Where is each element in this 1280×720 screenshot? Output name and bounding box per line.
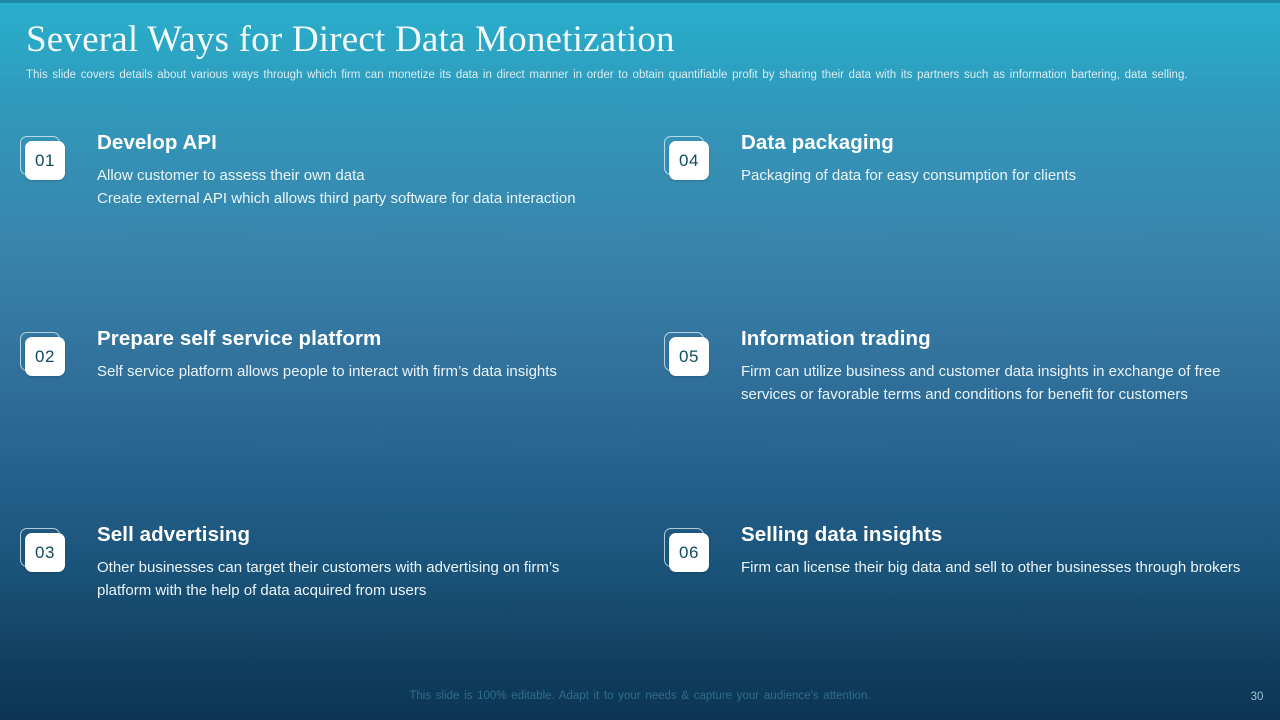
number-badge: 01 [20,136,72,186]
badge-number: 03 [35,544,55,561]
badge-front-layer: 05 [669,337,709,376]
badge-number: 05 [679,348,699,365]
list-item-body: Data packaging Packaging of data for eas… [741,130,1256,187]
badge-number: 01 [35,152,55,169]
top-divider [0,0,1280,3]
slide-canvas: Several Ways for Direct Data Monetizatio… [0,0,1280,720]
badge-front-layer: 02 [25,337,65,376]
list-item-description: Packaging of data for easy consumption f… [741,164,1256,187]
slide-header: Several Ways for Direct Data Monetizatio… [26,18,1254,84]
number-badge: 06 [664,528,716,578]
number-badge: 04 [664,136,716,186]
list-item-title: Information trading [741,326,1256,352]
list-item-description: Self service platform allows people to i… [97,360,612,383]
slide-subtitle: This slide covers details about various … [26,67,1236,84]
badge-number: 02 [35,348,55,365]
list-item-title: Selling data insights [741,522,1256,548]
list-item-title: Develop API [97,130,612,156]
page-title: Several Ways for Direct Data Monetizatio… [26,18,1254,62]
badge-front-layer: 01 [25,141,65,180]
list-item-description: Firm can license their big data and sell… [741,556,1256,579]
number-badge: 03 [20,528,72,578]
badge-front-layer: 04 [669,141,709,180]
number-badge: 02 [20,332,72,382]
list-item-body: Develop API Allow customer to assess the… [97,130,612,210]
content-area: 01 Develop API Allow customer to assess … [0,130,1280,670]
page-number: 30 [1244,689,1270,705]
badge-number: 06 [679,544,699,561]
list-item-body: Information trading Firm can utilize bus… [741,326,1256,406]
number-badge: 05 [664,332,716,382]
badge-front-layer: 06 [669,533,709,572]
badge-front-layer: 03 [25,533,65,572]
list-item-title: Sell advertising [97,522,612,548]
list-item-title: Prepare self service platform [97,326,612,352]
badge-number: 04 [679,152,699,169]
slide-footer: This slide is 100% editable. Adapt it to… [0,688,1280,712]
list-item-description: Other businesses can target their custom… [97,556,612,602]
footer-note: This slide is 100% editable. Adapt it to… [0,688,1280,704]
list-item-description: Firm can utilize business and customer d… [741,360,1256,406]
list-item-description: Allow customer to assess their own data … [97,164,612,210]
list-item-body: Sell advertising Other businesses can ta… [97,522,612,602]
list-item-body: Selling data insights Firm can license t… [741,522,1256,579]
list-item-body: Prepare self service platform Self servi… [97,326,612,383]
list-item-title: Data packaging [741,130,1256,156]
